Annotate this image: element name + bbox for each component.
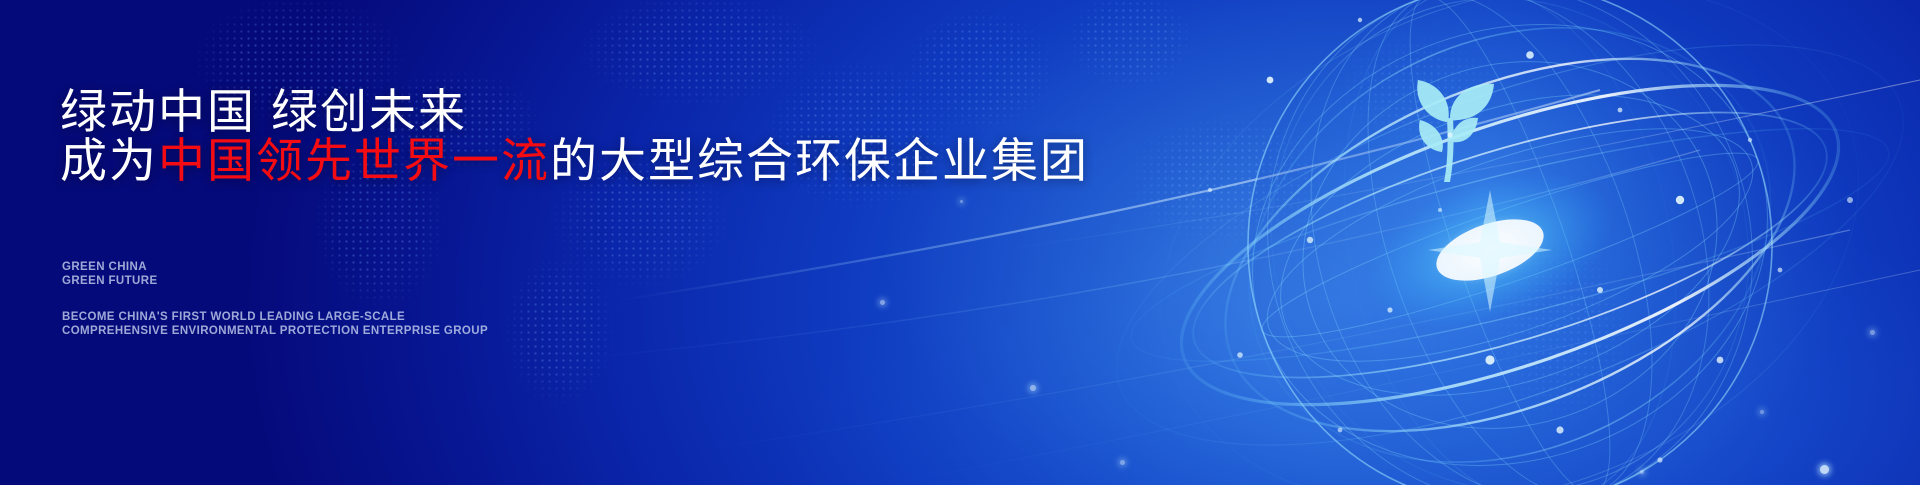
banner-text-block: 绿动中国 绿创未来 成为中国领先世界一流的大型综合环保企业集团 GREEN CH… xyxy=(60,0,1060,485)
tagline-green-china: GREEN CHINA GREEN FUTURE xyxy=(62,260,158,288)
core-light-burst xyxy=(1344,141,1635,358)
tagline-green-china-line1: GREEN CHINA xyxy=(62,260,158,274)
wireframe-globe xyxy=(1060,0,1920,485)
tagline-english: BECOME CHINA'S FIRST WORLD LEADING LARGE… xyxy=(62,310,488,338)
globe-particles xyxy=(1208,18,1853,463)
headline-line-2: 成为中国领先世界一流的大型综合环保企业集团 xyxy=(60,137,1089,184)
sprout-icon xyxy=(1417,80,1494,182)
headline-prefix: 成为 xyxy=(60,134,158,187)
headline-accent: 中国领先世界一流 xyxy=(158,134,550,187)
headline-line-1: 绿动中国 绿创未来 xyxy=(60,88,467,135)
tagline-green-china-line2: GREEN FUTURE xyxy=(62,274,158,288)
tagline-english-line1: BECOME CHINA'S FIRST WORLD LEADING LARGE… xyxy=(62,310,488,324)
hero-banner: 绿动中国 绿创未来 成为中国领先世界一流的大型综合环保企业集团 GREEN CH… xyxy=(0,0,1920,485)
tagline-english-line2: COMPREHENSIVE ENVIRONMENTAL PROTECTION E… xyxy=(62,324,488,338)
headline-suffix: 的大型综合环保企业集团 xyxy=(550,134,1089,187)
